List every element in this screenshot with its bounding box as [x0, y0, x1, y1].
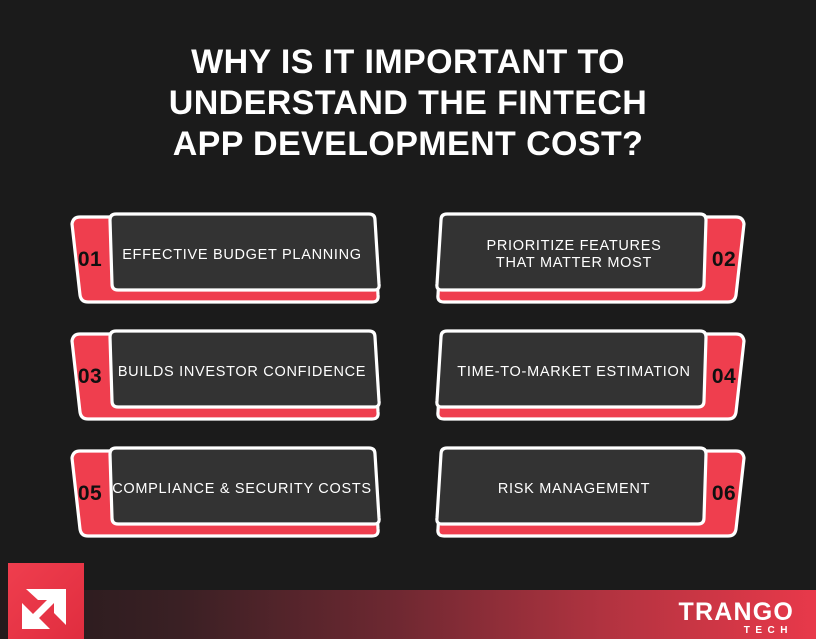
card-label: PRIORITIZE FEATURESTHAT MATTER MOST	[442, 214, 706, 296]
brand-subtitle: TECH	[678, 625, 794, 637]
footer-bar: TRANGO TECH	[0, 590, 816, 639]
card-number: 05	[64, 446, 116, 541]
reason-card-grid: 01 EFFECTIVE BUDGET PLANNING 02 PRIORITI…	[0, 212, 816, 563]
reason-card-02[interactable]: 02 PRIORITIZE FEATURESTHAT MATTER MOST	[428, 212, 768, 307]
brand-name: TRANGO	[678, 599, 794, 625]
card-label: RISK MANAGEMENT	[442, 448, 706, 530]
page-title-line-2: UNDERSTAND THE FINTECH	[0, 83, 816, 124]
page-title-line-3: APP DEVELOPMENT COST?	[0, 124, 816, 165]
page-title: WHY IS IT IMPORTANT TO UNDERSTAND THE FI…	[0, 42, 816, 165]
reason-card-06[interactable]: 06 RISK MANAGEMENT	[428, 446, 768, 541]
infographic-page: WHY IS IT IMPORTANT TO UNDERSTAND THE FI…	[0, 0, 816, 639]
reason-card-01[interactable]: 01 EFFECTIVE BUDGET PLANNING	[48, 212, 388, 307]
card-label: TIME-TO-MARKET ESTIMATION	[442, 331, 706, 413]
page-title-line-1: WHY IS IT IMPORTANT TO	[0, 42, 816, 83]
brand-wordmark: TRANGO TECH	[678, 599, 794, 637]
reason-card-04[interactable]: 04 TIME-TO-MARKET ESTIMATION	[428, 329, 768, 424]
reason-card-03[interactable]: 03 BUILDS INVESTOR CONFIDENCE	[48, 329, 388, 424]
card-label: COMPLIANCE & SECURITY COSTS	[110, 448, 374, 530]
card-label: EFFECTIVE BUDGET PLANNING	[110, 214, 374, 296]
trango-arrow-logo-icon	[8, 563, 84, 639]
card-row: 05 COMPLIANCE & SECURITY COSTS 06 RISK M…	[0, 446, 816, 563]
card-row: 03 BUILDS INVESTOR CONFIDENCE 04 TIME-TO…	[0, 329, 816, 446]
reason-card-05[interactable]: 05 COMPLIANCE & SECURITY COSTS	[48, 446, 388, 541]
arrow-glyph	[8, 563, 84, 639]
card-number: 01	[64, 212, 116, 307]
card-row: 01 EFFECTIVE BUDGET PLANNING 02 PRIORITI…	[0, 212, 816, 329]
card-number: 03	[64, 329, 116, 424]
card-label: BUILDS INVESTOR CONFIDENCE	[110, 331, 374, 413]
